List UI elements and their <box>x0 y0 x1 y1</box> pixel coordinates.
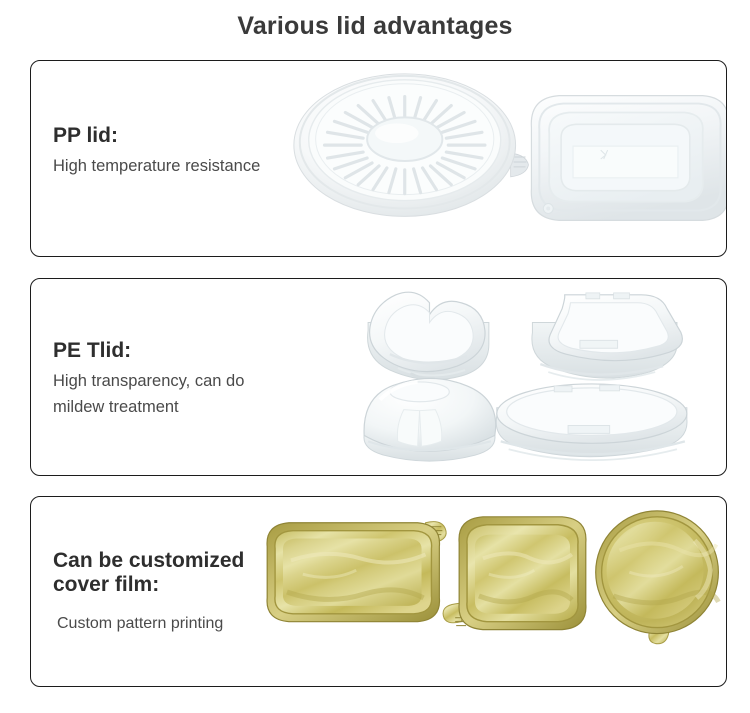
heart-shaped-pe-lid <box>368 292 489 380</box>
rectangular-pp-lid <box>531 96 726 221</box>
dome-pe-lid <box>364 378 496 461</box>
gold-round-foil-lid <box>596 511 719 644</box>
gold-rectangular-foil-lid <box>267 522 446 622</box>
card-pp-lid: PP lid: High temperature resistance <box>30 60 727 257</box>
card-cover-film-heading: Can be customized cover film: <box>53 549 244 598</box>
card-cover-film-subtext: Custom pattern printing <box>53 612 244 637</box>
lid-advantages-page: Various lid advantages PP lid: High temp… <box>0 0 750 713</box>
page-title: Various lid advantages <box>0 12 750 41</box>
square-pe-lid <box>532 293 682 380</box>
card-pp-lid-heading: PP lid: <box>53 124 260 148</box>
card-pe-tlid-subtext: High transparency, can do mildew treatme… <box>53 369 244 420</box>
card-pp-lid-subtext: High temperature resistance <box>53 154 260 180</box>
card-pp-lid-text: PP lid: High temperature resistance <box>53 124 260 180</box>
card-cover-film-text: Can be customized cover film: Custom pat… <box>53 549 244 637</box>
card-pe-tlid: PE Tlid: High transparency, can do milde… <box>30 278 727 476</box>
gold-square-foil-lid <box>443 517 586 630</box>
oval-pe-lid <box>496 384 687 460</box>
round-ribbed-pp-lid <box>294 74 529 217</box>
card-pe-tlid-text: PE Tlid: High transparency, can do milde… <box>53 339 244 420</box>
card-pe-tlid-heading: PE Tlid: <box>53 339 244 363</box>
card-cover-film: Can be customized cover film: Custom pat… <box>30 496 727 687</box>
